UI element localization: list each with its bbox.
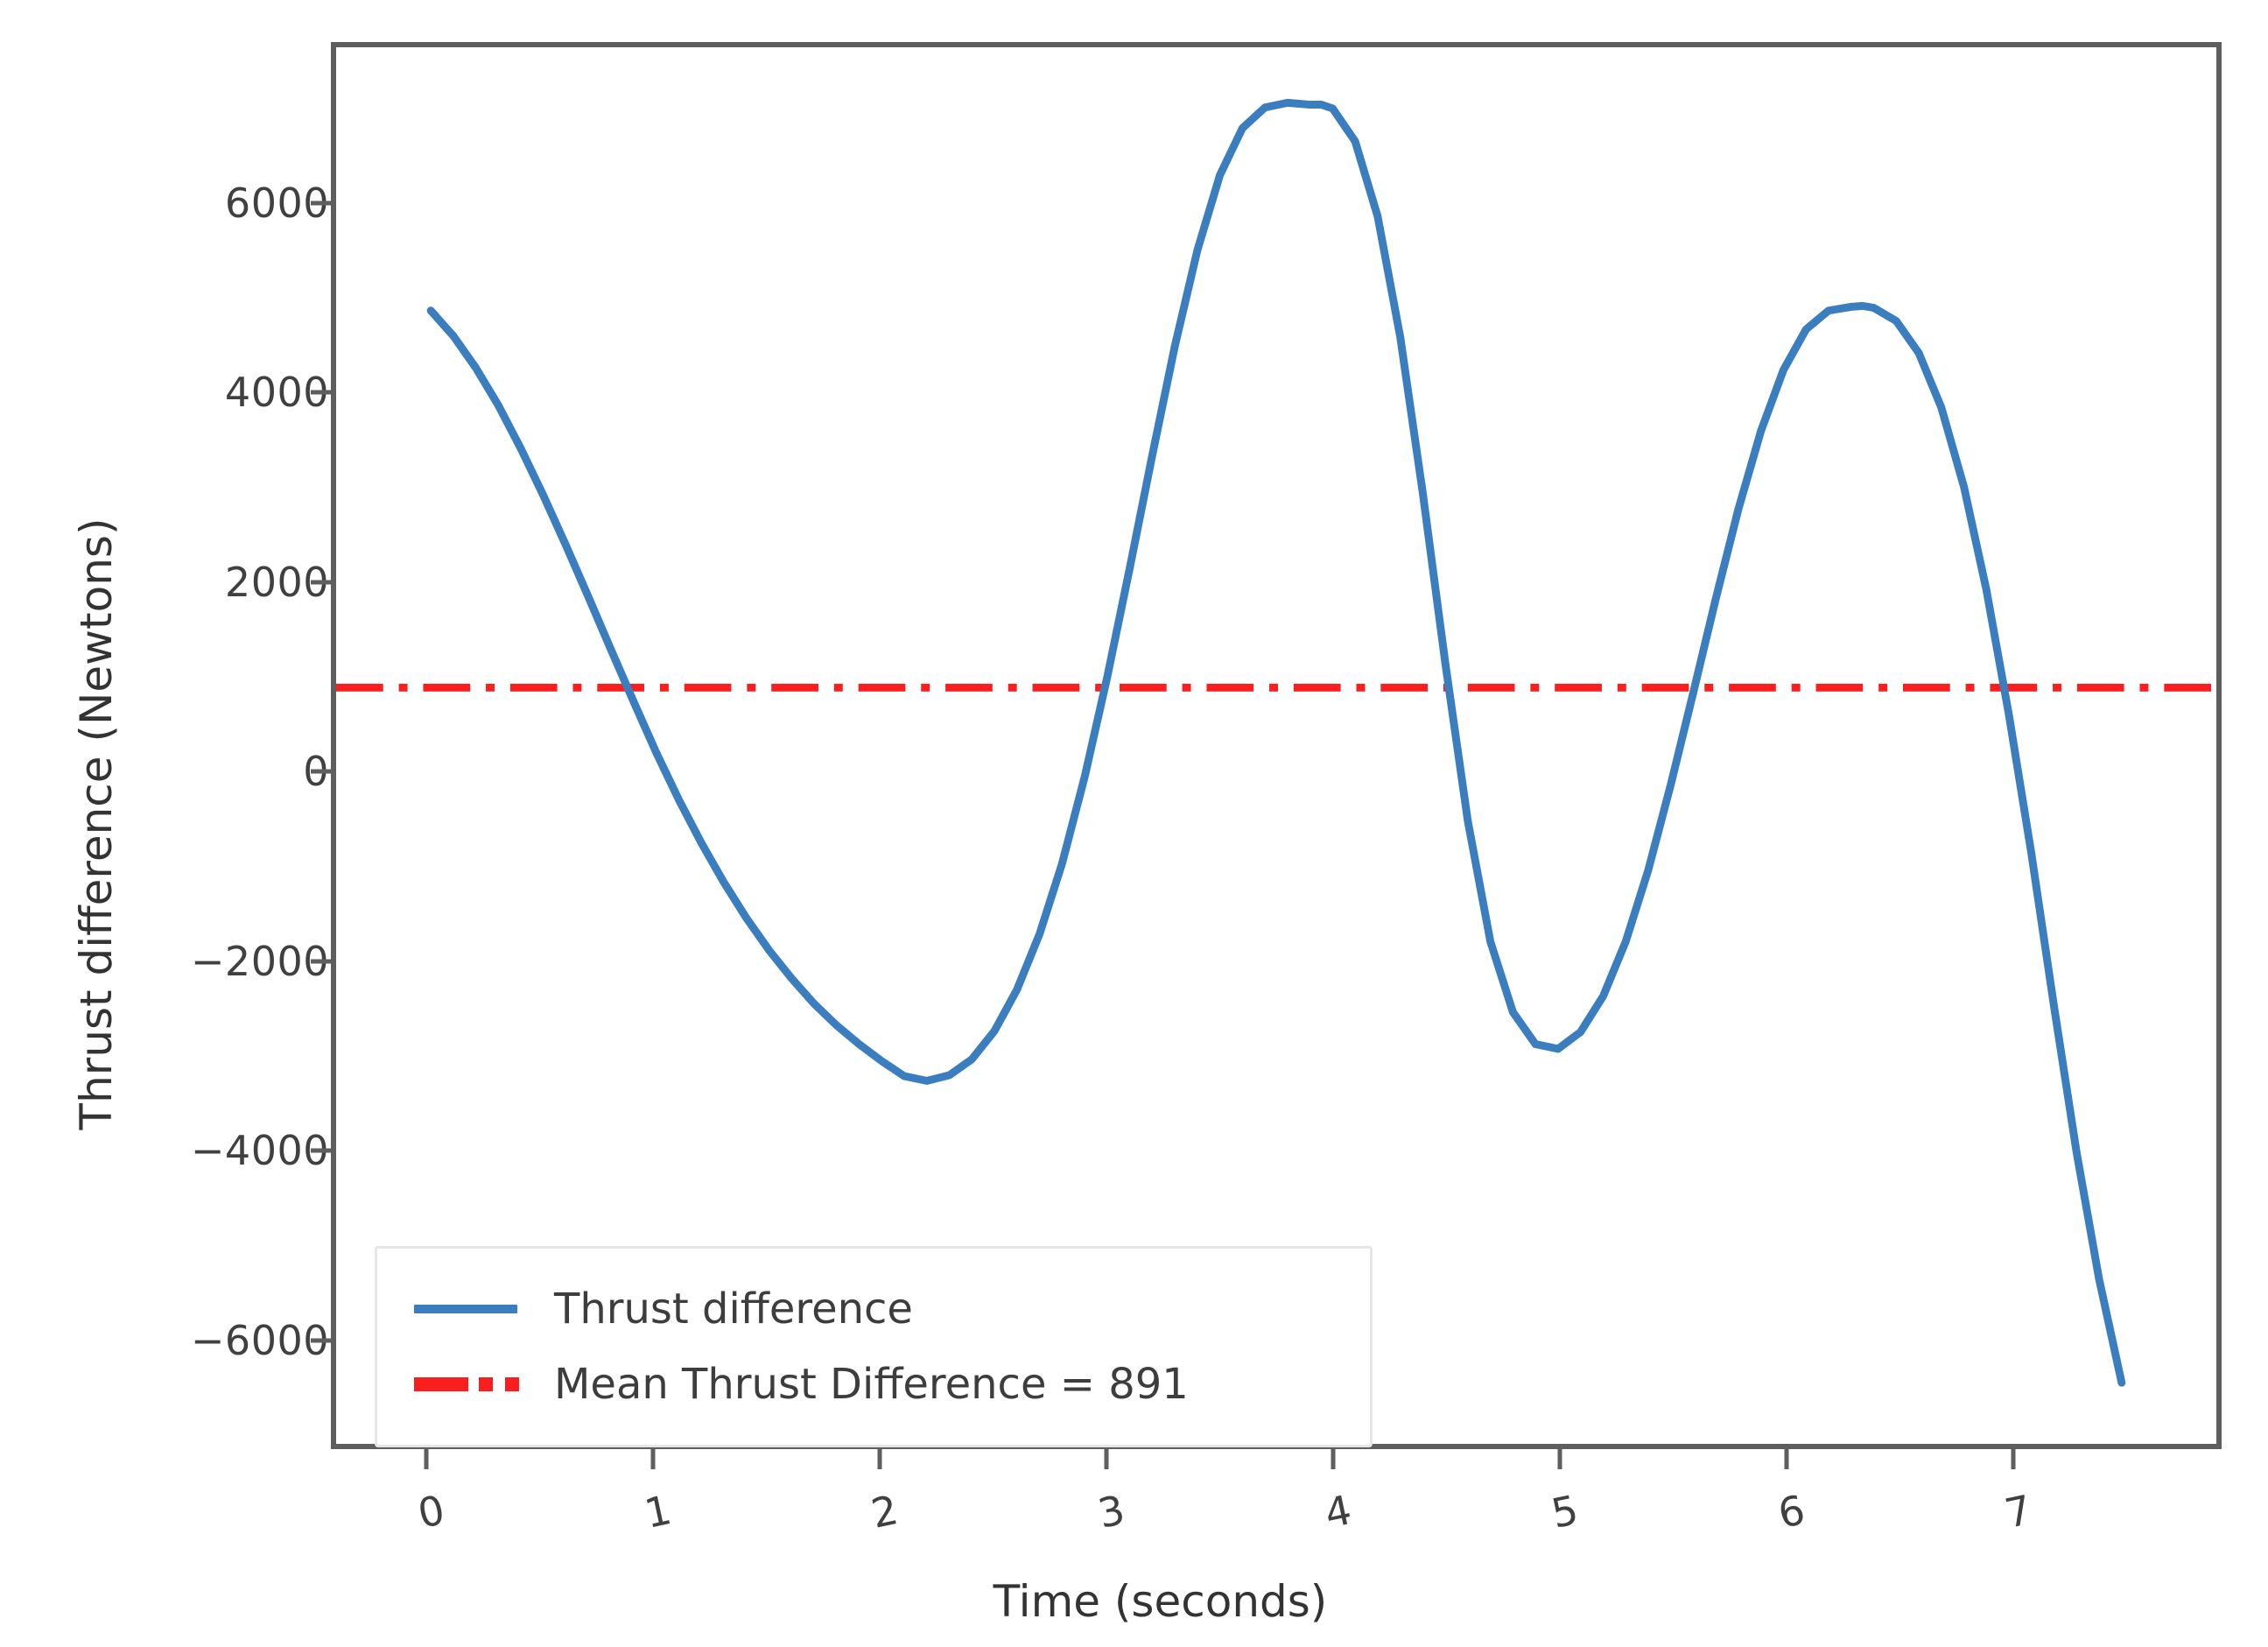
x-tick-label: 4 <box>1320 1486 1355 1538</box>
x-tick-label: 0 <box>413 1486 448 1538</box>
x-axis-title: Time (seconds) <box>0 1576 2268 1627</box>
x-tick-mark <box>877 1449 881 1469</box>
legend-item-mean-thrust-difference[interactable]: Mean Thrust Difference = 891 <box>377 1347 1370 1422</box>
x-tick-mark <box>1104 1449 1108 1469</box>
x-tick-label: 6 <box>1773 1486 1808 1538</box>
x-tick-mark <box>1331 1449 1335 1469</box>
thrust-difference-line <box>431 102 2122 1383</box>
x-tick-label: 1 <box>640 1486 675 1538</box>
y-tick-label: −6000 <box>191 1317 329 1364</box>
y-tick-mark <box>311 1338 331 1342</box>
y-tick-mark <box>311 770 331 774</box>
legend-item-thrust-difference[interactable]: Thrust difference <box>377 1271 1370 1347</box>
y-axis-title: Thrust difference (Newtons) <box>71 123 122 1524</box>
x-tick-mark <box>650 1449 655 1469</box>
y-tick-mark <box>311 580 331 584</box>
x-tick-mark <box>1784 1449 1788 1469</box>
y-tick-mark <box>311 391 331 395</box>
x-tick-mark <box>424 1449 428 1469</box>
y-tick-label: −4000 <box>191 1127 329 1174</box>
x-tick-mark <box>1557 1449 1562 1469</box>
legend-label-mean-thrust-difference: Mean Thrust Difference = 891 <box>554 1363 1189 1405</box>
plot-area <box>331 42 2222 1449</box>
x-tick-label: 3 <box>1093 1486 1128 1538</box>
y-tick-mark <box>311 959 331 963</box>
x-tick-label: 7 <box>2000 1486 2035 1538</box>
plot-svg <box>336 47 2216 1444</box>
y-tick-label: −2000 <box>191 938 329 985</box>
y-tick-mark <box>311 201 331 205</box>
x-tick-label: 5 <box>1547 1486 1582 1538</box>
x-tick-label: 2 <box>867 1486 902 1538</box>
x-tick-mark <box>2011 1449 2015 1469</box>
y-tick-mark <box>311 1149 331 1153</box>
legend-label-thrust-difference: Thrust difference <box>554 1288 913 1330</box>
figure: −6000−4000−20000200040006000 01234567 Th… <box>0 0 2268 1647</box>
legend[interactable]: Thrust difference Mean Thrust Difference… <box>375 1246 1373 1447</box>
